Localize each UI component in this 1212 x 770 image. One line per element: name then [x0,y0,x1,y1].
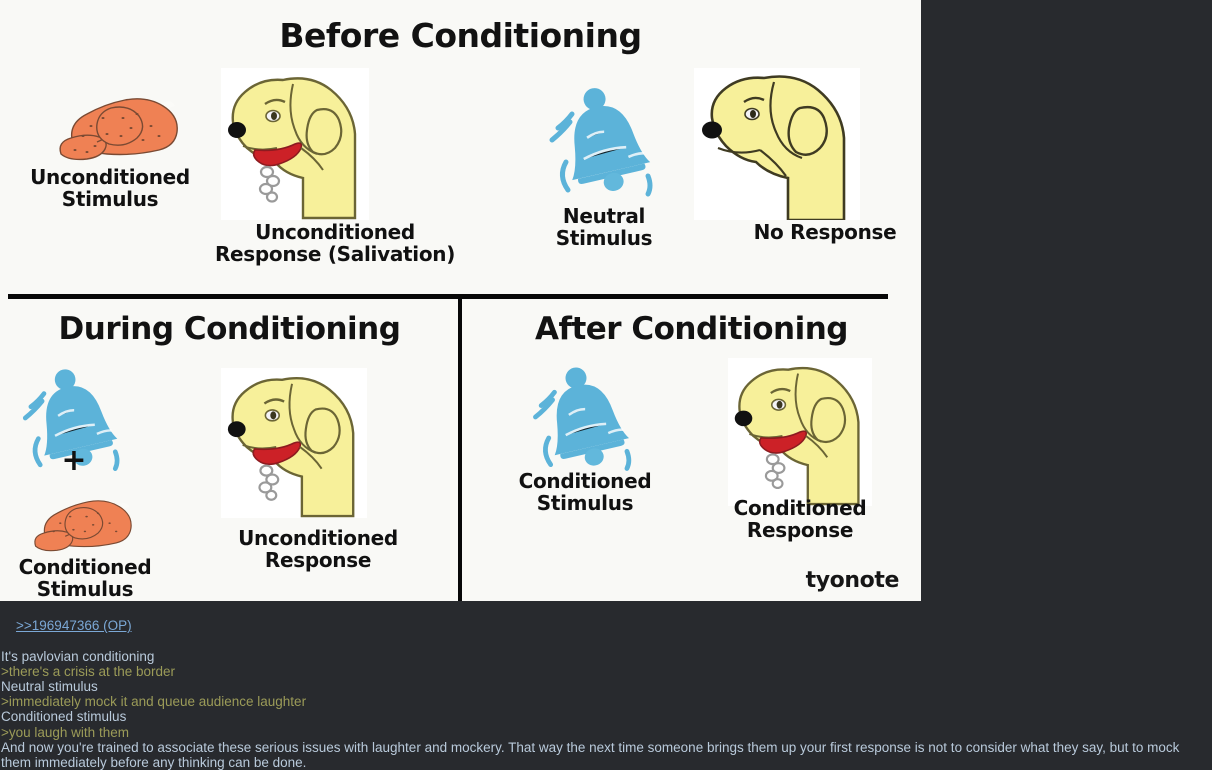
quotelink[interactable]: >>196947366 (OP) [16,618,132,633]
caption-no-response: No Response [700,221,921,243]
caption-conditioned-stimulus: ConditionedStimulus [0,556,170,601]
panel-title-before: Before Conditioning [0,16,921,55]
post-line-2: Neutral stimulus [0,679,1212,694]
post-body: >>196947366 (OP) It's pavlovian conditio… [0,603,1212,770]
caption-unconditioned-stimulus: UnconditionedStimulus [4,166,216,211]
post-line-0: It's pavlovian conditioning [0,649,1212,664]
panel-title-during: During Conditioning [0,311,459,347]
caption-conditioned-stimulus: ConditionedStimulus [492,470,678,515]
dog-salivating-icon [724,358,876,506]
dog-salivating-icon [221,68,369,220]
roast-turkey-icon [18,487,142,561]
divider-vertical [458,296,462,601]
caption-unconditioned-response: UnconditionedResponse (Salivation) [190,221,480,266]
post-line-5: >you laugh with them [0,725,1212,740]
dog-salivating-icon [216,368,372,518]
post-quotelink-line: >>196947366 (OP) [0,603,1212,649]
dog-neutral-icon [694,68,860,220]
post-closing-paragraph: And now you're trained to associate thes… [0,740,1212,770]
bell-icon [540,76,668,204]
bell-icon [524,356,646,478]
panel-title-after: After Conditioning [462,311,921,347]
caption-neutral-stimulus: NeutralStimulus [505,205,703,250]
plus-sign: + [40,443,108,478]
post-line-3: >immediately mock it and queue audience … [0,694,1212,709]
post-line-4: Conditioned stimulus [0,709,1212,724]
divider-horizontal [8,294,888,299]
caption-unconditioned-response: UnconditionedResponse [200,527,436,572]
post-attached-image[interactable]: Before Conditioning During Conditioning … [0,0,921,601]
roast-turkey-icon [45,82,185,172]
watermark-tyonote: tyonote [806,568,899,593]
post-line-1: >there's a crisis at the border [0,664,1212,679]
caption-conditioned-response: ConditionedResponse [700,497,900,542]
